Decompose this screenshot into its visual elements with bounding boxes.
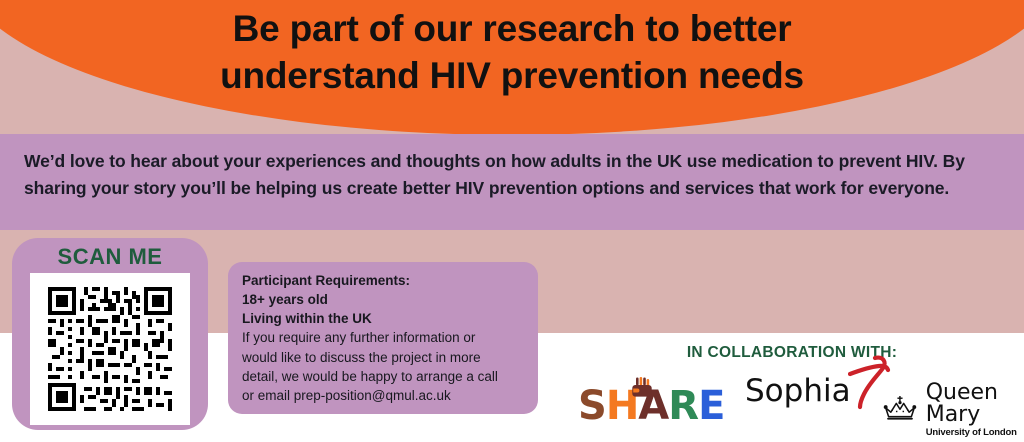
page-title-line-2: understand HIV prevention needs — [220, 53, 804, 100]
requirements-heading: Participant Requirements: — [242, 271, 524, 290]
share-letter-e: E — [698, 386, 724, 426]
collaboration-title: IN COLLABORATION WITH: — [560, 344, 1024, 362]
description-band: We’d love to hear about your experiences… — [0, 134, 1024, 230]
queen-mary-subtitle: University of London — [926, 428, 1024, 438]
sophia-logo: Sophia — [745, 372, 892, 410]
scan-me-label: SCAN ME — [58, 244, 163, 270]
qr-card[interactable]: SCAN ME — [12, 238, 208, 430]
requirement-location: Living within the UK — [242, 309, 524, 328]
raised-fist-icon — [631, 377, 653, 407]
page-title: Be part of our research to better unders… — [0, 0, 1024, 135]
share-letter-r: R — [668, 386, 698, 426]
share-logo: SHARE — [578, 386, 724, 426]
share-wordmark: SHARE — [578, 386, 724, 426]
share-letter-s: S — [578, 386, 606, 426]
qr-code-icon[interactable] — [30, 273, 190, 425]
queen-mary-logo: Queen Mary University of London — [882, 382, 1024, 438]
page-title-line-1: Be part of our research to better — [233, 6, 792, 53]
partner-logo-row: SHARE Sophia — [560, 368, 1024, 440]
contact-text-line-2: would like to discuss the project in mor… — [242, 348, 524, 367]
queen-mary-text: Queen Mary University of London — [926, 382, 1024, 438]
contact-text-line-4: or email prep-position@qmul.ac.uk — [242, 386, 524, 405]
contact-text-line-3: detail, we would be happy to arrange a c… — [242, 367, 524, 386]
collaboration-section: IN COLLABORATION WITH: SHARE — [560, 340, 1024, 442]
requirement-age: 18+ years old — [242, 290, 524, 309]
poster: Be part of our research to better unders… — [0, 0, 1024, 442]
orange-header-shape: Be part of our research to better unders… — [0, 0, 1024, 135]
participant-requirements-box: Participant Requirements: 18+ years old … — [228, 262, 538, 414]
description-text: We’d love to hear about your experiences… — [24, 148, 1000, 201]
sophia-wordmark: Sophia — [745, 376, 851, 407]
queen-mary-name: Queen Mary — [926, 382, 1024, 426]
contact-text-line-1: If you require any further information o… — [242, 328, 524, 347]
crown-icon — [882, 389, 919, 431]
